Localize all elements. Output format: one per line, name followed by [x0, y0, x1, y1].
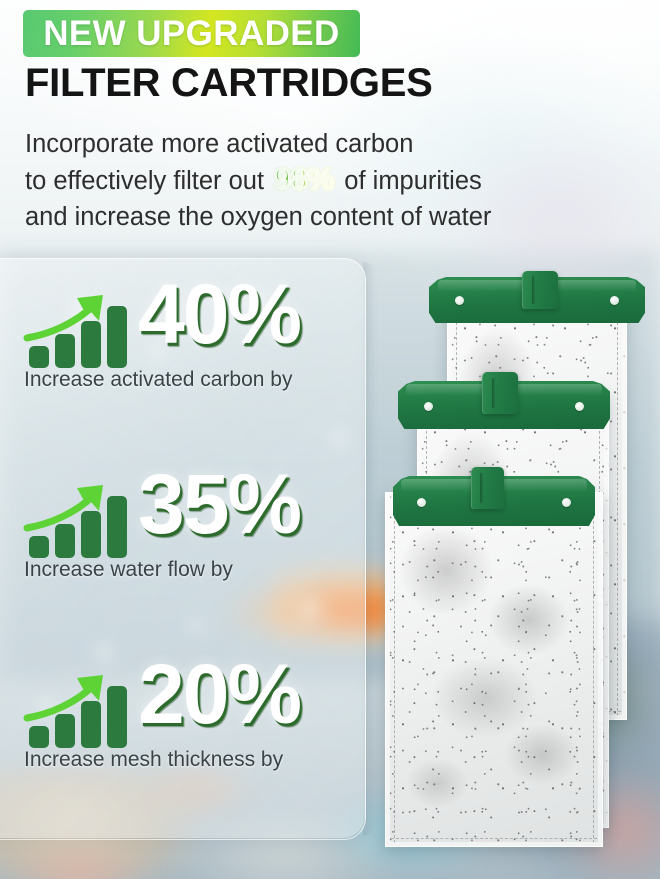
background-coral-pink-left — [15, 840, 145, 879]
cap-center-tab — [482, 372, 518, 414]
badge-label: NEW UPGRADED — [43, 14, 339, 54]
cartridge-cap — [429, 277, 645, 323]
pad-border — [385, 492, 603, 847]
stat-value: 20% — [138, 646, 300, 743]
cap-center-tab — [522, 271, 558, 309]
description-line-2: to effectively filter out 98% of impurit… — [25, 162, 625, 199]
cap-rivet-right — [610, 296, 619, 305]
stat-value: 40% — [138, 266, 300, 363]
stat-caption: Increase mesh thickness by — [24, 748, 283, 772]
cap-tab-slot — [492, 378, 495, 408]
description-line-1: Incorporate more activated carbon — [25, 126, 625, 162]
marketing-banner: NEW UPGRADED FILTER CARTRIDGES Incorpora… — [0, 0, 660, 879]
bar-chart-growth-icon — [23, 480, 143, 558]
filter-cartridge-front — [385, 492, 603, 847]
stat-value: 35% — [138, 456, 300, 553]
description-text: Incorporate more activated carbon to eff… — [25, 126, 625, 235]
cap-rivet-left — [417, 498, 426, 507]
stat-caption: Increase activated carbon by — [24, 368, 293, 392]
cap-rivet-right — [562, 498, 571, 507]
cartridge-cap — [393, 476, 595, 526]
stat-row-water-flow: 35% Increase water flow by — [18, 472, 358, 622]
new-upgraded-badge: NEW UPGRADED — [23, 10, 360, 57]
cap-tab-slot — [532, 276, 535, 303]
stat-row-mesh-thickness: 20% Increase mesh thickness by — [18, 662, 358, 812]
cap-tab-slot — [480, 473, 483, 503]
highlight-percentage: 98% — [271, 163, 337, 196]
description-line-2-post: of impurities — [344, 167, 481, 195]
filter-pad — [385, 492, 603, 847]
cartridge-cap — [398, 381, 610, 429]
description-line-2-pre: to effectively filter out — [25, 167, 264, 195]
bar-chart-growth-icon — [23, 670, 143, 748]
page-title: FILTER CARTRIDGES — [25, 61, 432, 106]
cap-rivet-left — [455, 296, 464, 305]
cap-rivet-right — [575, 402, 584, 411]
stat-caption: Increase water flow by — [24, 558, 233, 582]
stat-row-carbon: 40% Increase activated carbon by — [18, 282, 358, 432]
cap-rivet-left — [424, 402, 433, 411]
bar-chart-growth-icon — [23, 290, 143, 368]
cap-center-tab — [471, 467, 504, 509]
description-line-3: and increase the oxygen content of water — [25, 199, 625, 235]
